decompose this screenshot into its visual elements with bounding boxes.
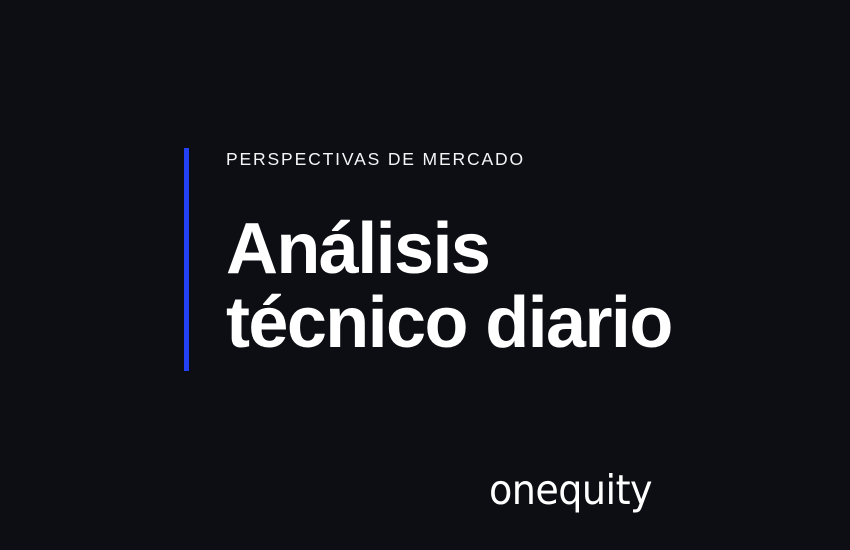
eyebrow-label: PERSPECTIVAS DE MERCADO [226,148,746,169]
accent-bar [184,148,189,371]
title-text-group: PERSPECTIVAS DE MERCADO Análisis técnico… [226,148,746,360]
page-title-line-2: técnico diario [226,286,746,360]
title-block: PERSPECTIVAS DE MERCADO Análisis técnico… [184,148,744,371]
brand-logo: onequity [489,470,664,518]
page-title: Análisis técnico diario [226,212,746,360]
brand-wordmark: onequity [489,470,652,511]
slide-canvas: PERSPECTIVAS DE MERCADO Análisis técnico… [0,0,850,550]
page-title-line-1: Análisis [226,212,746,286]
